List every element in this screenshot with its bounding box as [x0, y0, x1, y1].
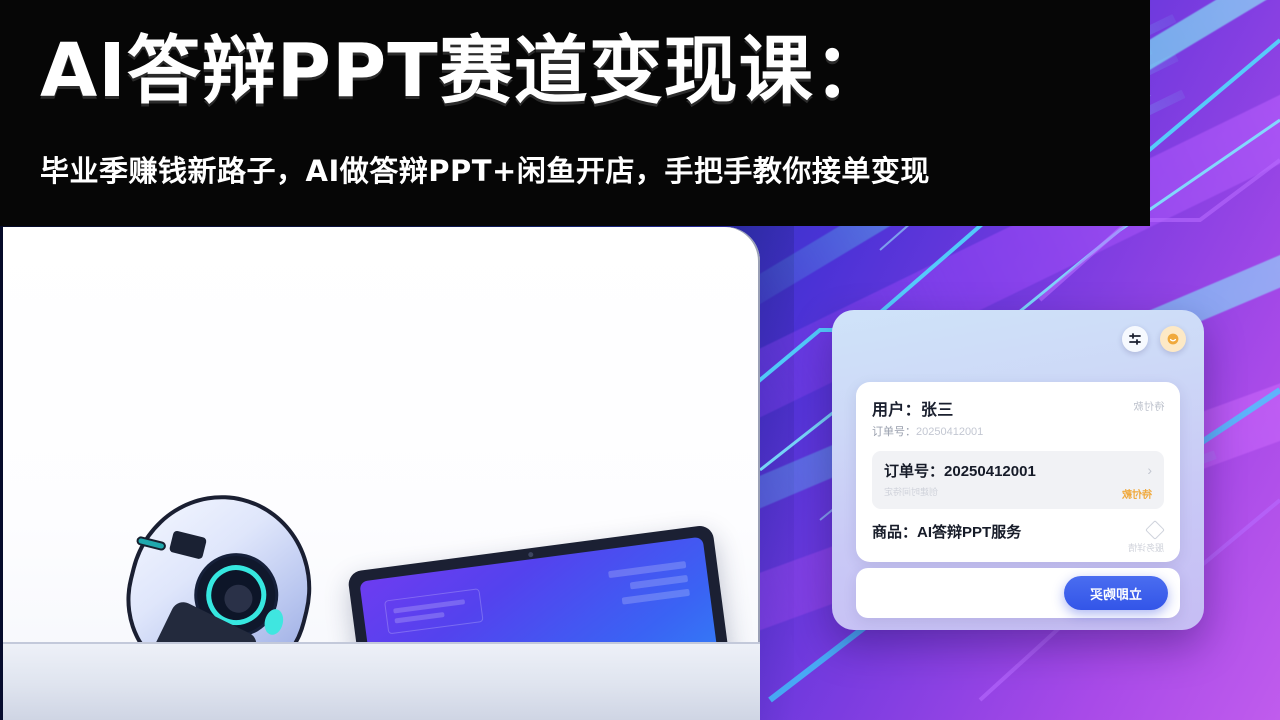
screen-placeholder-bar-5 [622, 589, 690, 605]
user-order-label: 订单号： [872, 426, 916, 438]
buy-now-label: 立即购买 [1090, 584, 1142, 603]
screen-placeholder-bar-4 [630, 575, 688, 590]
chevron-right-icon[interactable]: › [1147, 462, 1152, 478]
order-value: 20250412001 [944, 463, 1036, 480]
webcam-icon [527, 552, 533, 558]
user-row: 用户：张三 订单号：20250412001 待付款 [872, 396, 1164, 439]
user-order-line: 订单号：20250412001 [872, 423, 1164, 439]
order-number-line: 订单号：20250412001 [884, 460, 1152, 481]
promo-banner: AI答辩PPT赛道变现课： 毕业季赚钱新路子，AI做答辩PPT+闲鱼开店，手把手… [0, 0, 1280, 720]
item-value: AI答辩PPT服务 [917, 524, 1021, 541]
user-name-line: 用户：张三 [872, 396, 1164, 420]
card-icon-bar [1122, 326, 1186, 352]
user-label: 用户： [872, 402, 921, 419]
illustration-panel: AI答辩PPT生成中 立即生成 [3, 227, 760, 720]
order-label: 订单号： [884, 463, 944, 480]
share-icon-glyph [1128, 332, 1142, 346]
robot-eye-pupil [221, 582, 255, 616]
user-meta: 待付款 [1133, 398, 1165, 413]
user-order-value: 20250412001 [916, 426, 983, 438]
header-banner: AI答辩PPT赛道变现课： 毕业季赚钱新路子，AI做答辩PPT+闲鱼开店，手把手… [0, 0, 1150, 226]
order-card: 用户：张三 订单号：20250412001 待付款 订单号：2025041200… [832, 310, 1204, 630]
desk-surface [3, 642, 760, 720]
buy-now-button[interactable]: 立即购买 [1064, 576, 1168, 610]
order-number-row[interactable]: 订单号：20250412001 创建时间待定 待付款 › [872, 451, 1164, 509]
order-details-panel: 用户：张三 订单号：20250412001 待付款 订单号：2025041200… [856, 382, 1180, 562]
item-row[interactable]: 商品：AI答辩PPT服务 服务详情 [872, 521, 1164, 542]
smiley-icon-glyph [1166, 332, 1180, 346]
robot-ear-panel [169, 530, 207, 560]
item-label: 商品： [872, 524, 917, 541]
page-title: AI答辩PPT赛道变现课： [40, 34, 1130, 108]
order-sub-text: 创建时间待定 [884, 485, 938, 498]
robot-antenna-icon [136, 535, 167, 551]
order-card-footer: 立即购买 [856, 568, 1180, 618]
user-value: 张三 [921, 402, 954, 419]
page-subtitle: 毕业季赚钱新路子，AI做答辩PPT+闲鱼开店，手把手教你接单变现 [40, 148, 1130, 190]
status-badge: 待付款 [1122, 486, 1152, 501]
share-icon[interactable] [1122, 326, 1148, 352]
item-sub-text: 服务详情 [1128, 541, 1164, 554]
item-line: 商品：AI答辩PPT服务 [872, 521, 1164, 542]
smiley-icon[interactable] [1160, 326, 1186, 352]
